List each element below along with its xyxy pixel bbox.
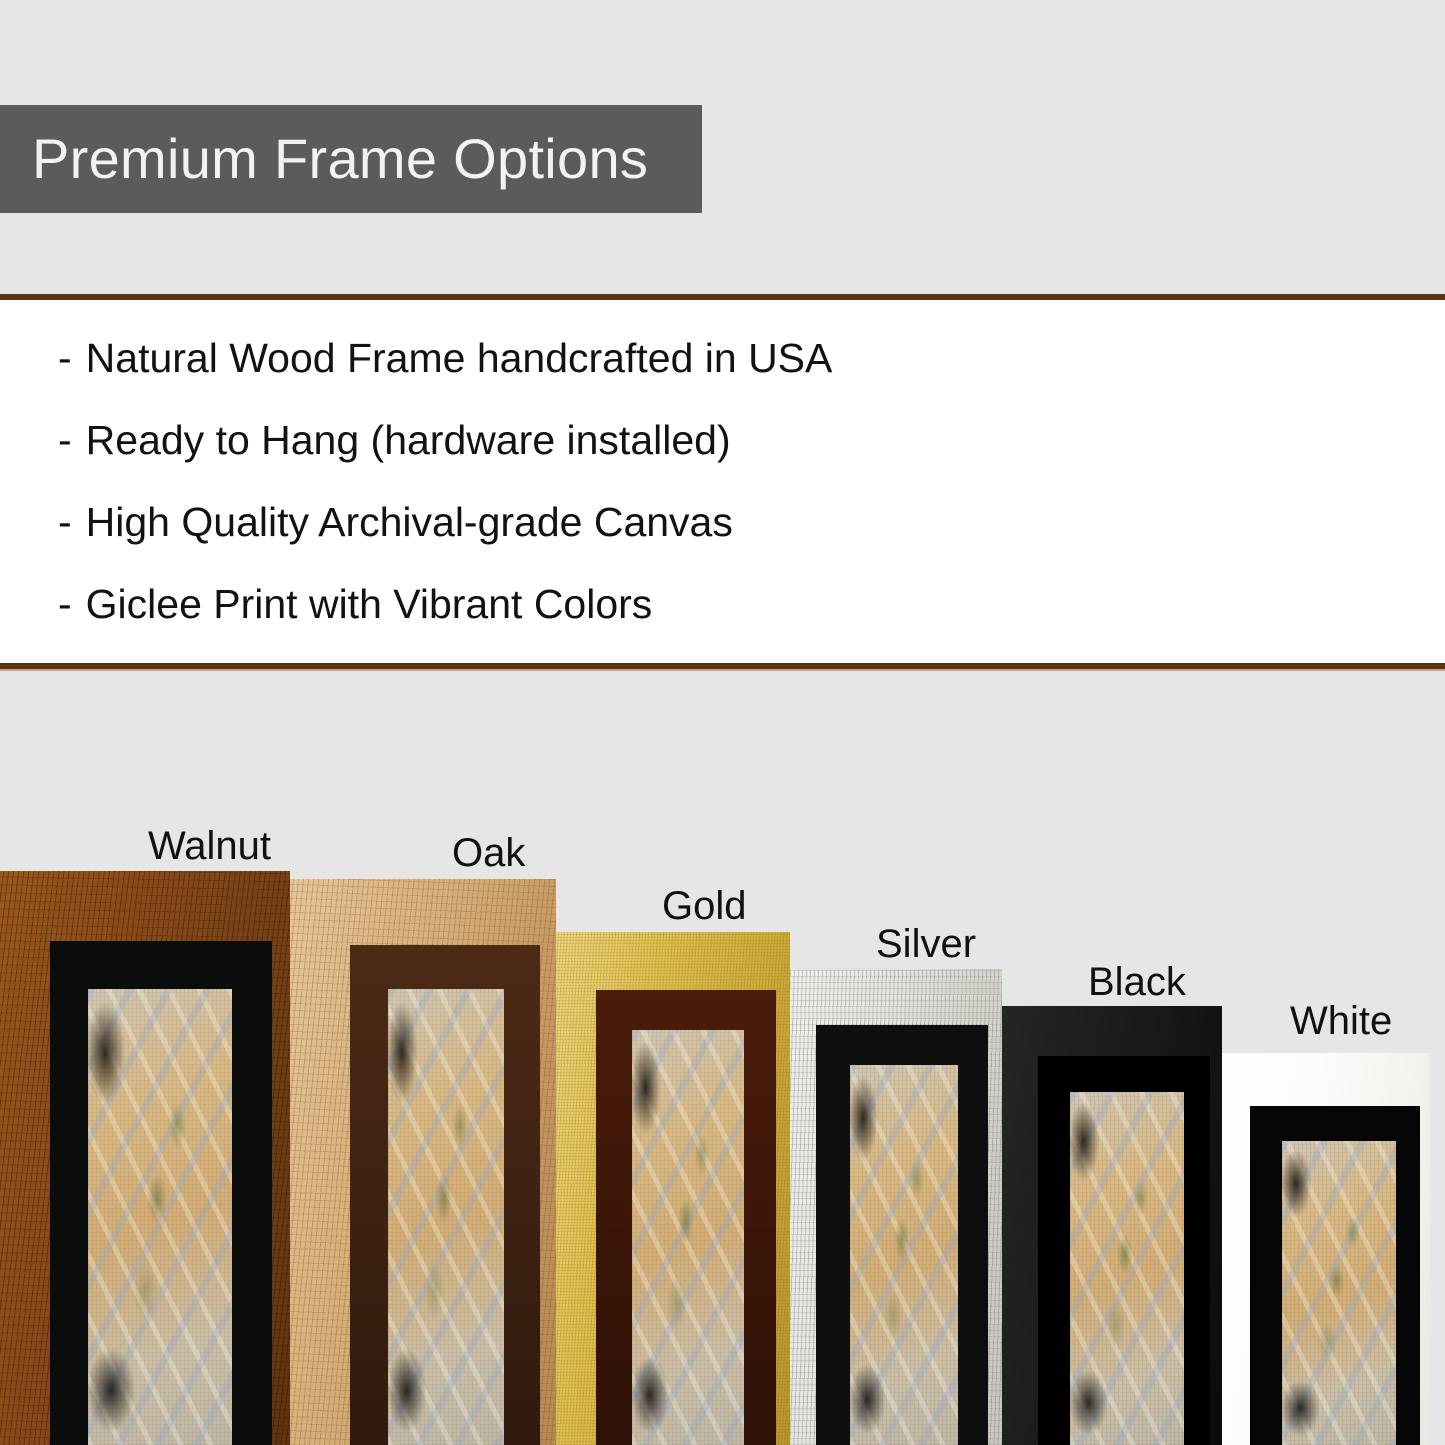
feature-text: High Quality Archival-grade Canvas — [86, 499, 733, 545]
frame-gold-canvas — [632, 1030, 744, 1445]
frame-label-gold: Gold — [662, 886, 747, 926]
frame-gold[interactable] — [540, 932, 790, 1445]
frame-label-silver: Silver — [876, 924, 976, 964]
feature-item: -Natural Wood Frame handcrafted in USA — [58, 338, 1445, 379]
frame-white-canvas — [1282, 1141, 1396, 1445]
frame-silver[interactable] — [762, 969, 1002, 1445]
feature-item: -High Quality Archival-grade Canvas — [58, 502, 1445, 543]
frame-label-black: Black — [1088, 962, 1186, 1002]
frame-silver-canvas — [850, 1065, 958, 1445]
features-panel: -Natural Wood Frame handcrafted in USA -… — [0, 300, 1445, 663]
feature-dash: - — [58, 499, 72, 545]
title-chip: Premium Frame Options — [0, 105, 702, 213]
feature-item: -Ready to Hang (hardware installed) — [58, 420, 1445, 461]
page-title: Premium Frame Options — [0, 131, 648, 187]
product-infographic: Premium Frame Options -Natural Wood Fram… — [0, 0, 1445, 1445]
frame-label-walnut: Walnut — [148, 826, 271, 866]
feature-text: Natural Wood Frame handcrafted in USA — [86, 335, 833, 381]
frame-oak-canvas — [388, 989, 504, 1445]
feature-item: -Giclee Print with Vibrant Colors — [58, 584, 1445, 625]
header-band: Premium Frame Options — [0, 0, 1445, 295]
feature-dash: - — [58, 335, 72, 381]
feature-text: Ready to Hang (hardware installed) — [86, 417, 731, 463]
frame-oak[interactable] — [288, 879, 556, 1445]
frame-black[interactable] — [990, 1006, 1222, 1445]
feature-dash: - — [58, 581, 72, 627]
frame-white[interactable] — [1200, 1053, 1430, 1445]
frame-label-oak: Oak — [452, 833, 525, 873]
feature-text: Giclee Print with Vibrant Colors — [86, 581, 653, 627]
frame-walnut[interactable] — [0, 871, 290, 1445]
frame-label-white: White — [1290, 1001, 1392, 1041]
frame-showcase: White Black Silver Gold Oak — [0, 671, 1445, 1445]
frame-walnut-canvas — [88, 989, 232, 1445]
frame-black-canvas — [1070, 1092, 1184, 1445]
feature-dash: - — [58, 417, 72, 463]
